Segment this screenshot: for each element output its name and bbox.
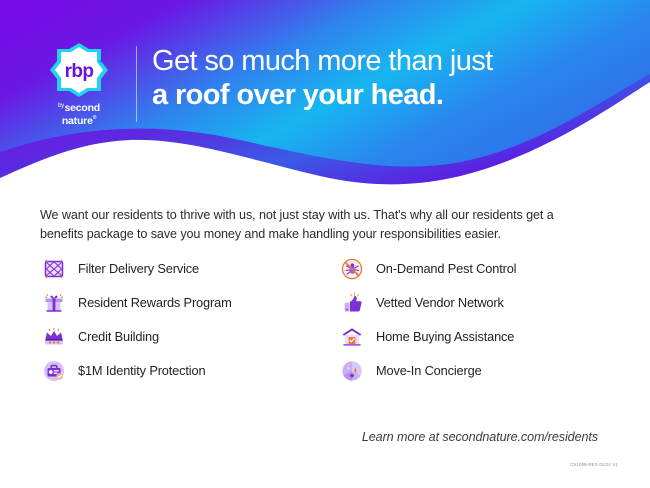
benefit-item-filter-delivery-service: Filter Delivery Service <box>40 252 305 286</box>
thumbs-up-icon <box>338 289 366 317</box>
benefit-label: Resident Rewards Program <box>78 296 232 310</box>
svg-text:™: ™ <box>98 60 103 66</box>
benefit-item-pest-control: On-Demand Pest Control <box>338 252 603 286</box>
intro-paragraph: We want our residents to thrive with us,… <box>40 206 600 243</box>
benefit-item-identity-protection: $1M Identity Protection <box>40 354 305 388</box>
headline-line-2: a roof over your head. <box>152 78 493 112</box>
benefit-item-resident-rewards-program: Resident Rewards Program <box>40 286 305 320</box>
sparkle-circle-icon <box>338 357 366 385</box>
marketing-flyer: rbp ™ bysecond nature® Get so much more … <box>0 0 650 488</box>
page-title: Get so much more than just a roof over y… <box>152 44 493 112</box>
benefit-label: On-Demand Pest Control <box>376 262 516 276</box>
rbp-logo-mark: rbp ™ <box>48 42 110 98</box>
logo-divider <box>136 46 137 122</box>
benefit-label: Vetted Vendor Network <box>376 296 504 310</box>
house-icon <box>338 323 366 351</box>
benefit-label: Move-In Concierge <box>376 364 482 378</box>
document-code: CS1008-RES 02/24 V1 <box>570 462 618 467</box>
svg-text:rbp: rbp <box>65 61 94 82</box>
logo-sub-line2: nature <box>62 115 93 127</box>
logo-subtitle: bysecond nature® <box>36 101 122 126</box>
benefit-label: Home Buying Assistance <box>376 330 514 344</box>
headline-line-1: Get so much more than just <box>152 44 493 78</box>
benefit-label: Credit Building <box>78 330 159 344</box>
id-badge-check-icon <box>40 357 68 385</box>
benefit-item-move-in-concierge: Move-In Concierge <box>338 354 603 388</box>
benefit-item-home-buying-assistance: Home Buying Assistance <box>338 320 603 354</box>
no-pest-icon <box>338 255 366 283</box>
benefits-column-left: Filter Delivery Service Resident Rewards… <box>40 252 305 388</box>
benefits-column-right: On-Demand Pest Control Vetted Vendor Net… <box>338 252 603 388</box>
gift-box-icon <box>40 289 68 317</box>
crown-badge-icon <box>40 323 68 351</box>
benefit-label: Filter Delivery Service <box>78 262 199 276</box>
air-filter-icon <box>40 255 68 283</box>
rbp-logo: rbp ™ bysecond nature® <box>36 42 122 120</box>
benefit-item-vetted-vendor-network: Vetted Vendor Network <box>338 286 603 320</box>
benefit-label: $1M Identity Protection <box>78 364 205 378</box>
benefit-item-credit-building: Credit Building <box>40 320 305 354</box>
header-banner: rbp ™ bysecond nature® Get so much more … <box>0 0 650 190</box>
learn-more-text: Learn more at secondnature.com/residents <box>362 430 598 444</box>
